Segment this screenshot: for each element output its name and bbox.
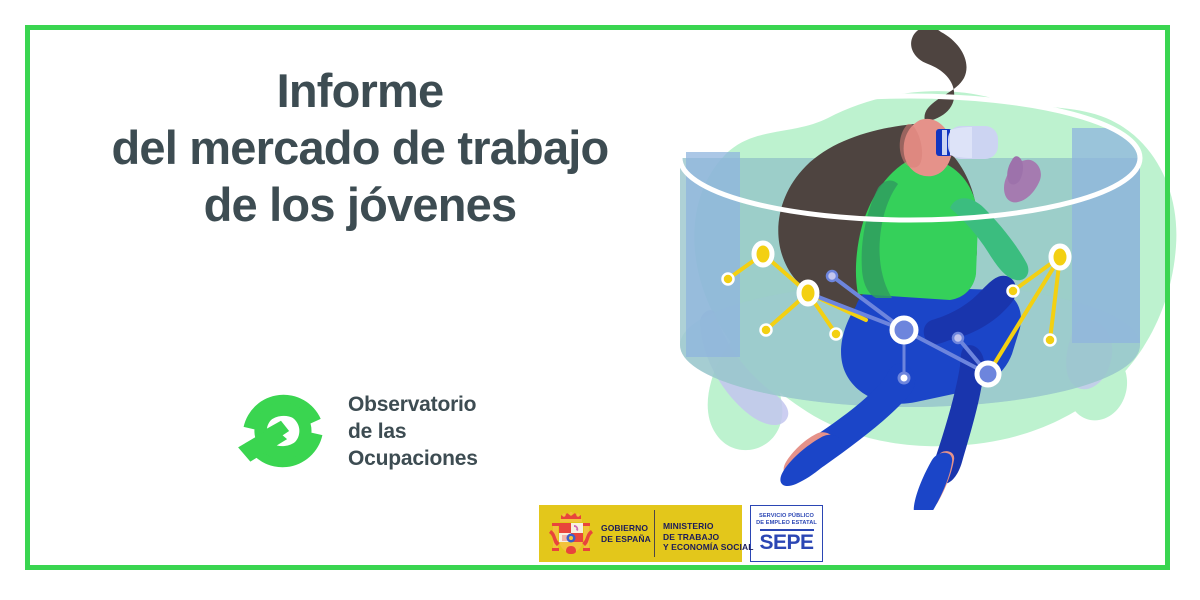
gobierno-text: GOBIERNO DE ESPAÑA [601, 523, 651, 544]
observatorio-wordmark-line-1: Observatorio [348, 391, 478, 418]
spain-coat-of-arms [549, 510, 593, 558]
observatorio-wordmark-line-3: Ocupaciones [348, 445, 478, 472]
government-logos: GOBIERNO DE ESPAÑA MINISTERIO DE TRABAJO… [539, 505, 823, 562]
title-line-1: Informe [60, 62, 660, 119]
title-line-2: del mercado de trabajo [60, 119, 660, 176]
observatorio-wordmark: Observatorio de las Ocupaciones [348, 391, 478, 472]
sepe-tagline-line-1: SERVICIO PÚBLICO [756, 513, 817, 520]
gov-divider [654, 510, 655, 557]
sepe-acronym: SEPE [759, 531, 813, 554]
vr-headset-icon [936, 126, 998, 159]
ministerio-line-3: Y ECONOMÍA SOCIAL [663, 542, 754, 553]
page-title: Informe del mercado de trabajo de los jó… [60, 62, 660, 233]
title-line-3: de los jóvenes [60, 176, 660, 233]
observatorio-wordmark-line-2: de las [348, 418, 478, 445]
ministerio-text: MINISTERIO DE TRABAJO Y ECONOMÍA SOCIAL [663, 521, 754, 553]
observatorio-logo-mark [232, 380, 334, 482]
vr-young-person-illustration [620, 10, 1200, 510]
ministerio-line-1: MINISTERIO [663, 521, 754, 532]
cover-page: Informe del mercado de trabajo de los jó… [0, 0, 1200, 600]
sepe-logo: SERVICIO PÚBLICO DE EMPLEO ESTATAL SEPE [750, 505, 823, 562]
gobierno-line-2: DE ESPAÑA [601, 534, 651, 545]
observatorio-logo: Observatorio de las Ocupaciones [232, 380, 478, 482]
gobierno-de-espana-logo: GOBIERNO DE ESPAÑA MINISTERIO DE TRABAJO… [539, 505, 742, 562]
sepe-tagline-line-2: DE EMPLEO ESTATAL [756, 520, 817, 527]
ministerio-line-2: DE TRABAJO [663, 532, 754, 543]
gobierno-line-1: GOBIERNO [601, 523, 651, 534]
sepe-tagline: SERVICIO PÚBLICO DE EMPLEO ESTATAL [756, 513, 817, 527]
